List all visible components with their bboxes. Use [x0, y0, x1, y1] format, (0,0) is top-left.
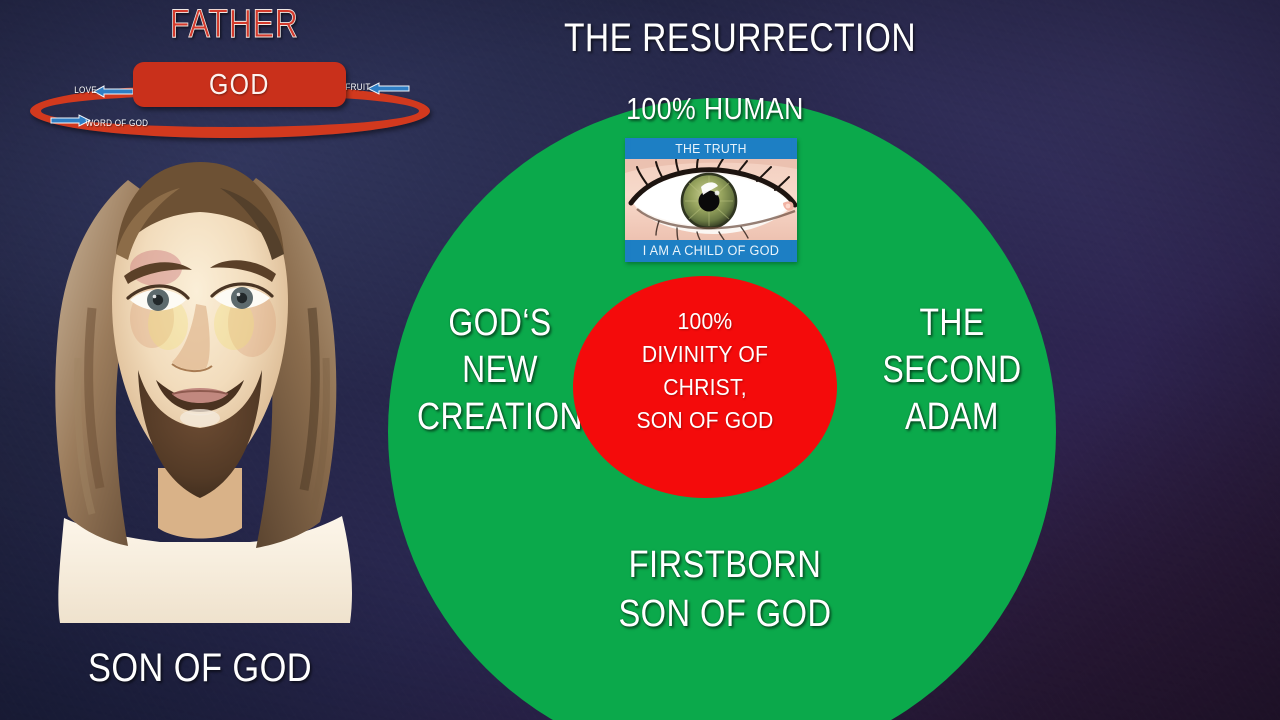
label-gods-new-creation: GOD‘S NEW CREATION: [416, 300, 584, 441]
label-line: THE: [876, 300, 1027, 347]
god-box-label: GOD: [209, 70, 270, 100]
eye-photo: [625, 159, 797, 240]
divinity-text-block: 100% DIVINITY OF CHRIST, SON OF GOD: [584, 305, 827, 437]
label-line: SECOND: [876, 347, 1027, 394]
label-line: GOD‘S: [416, 300, 584, 347]
fruit-arrow-icon: [366, 81, 410, 97]
label-line: SON OF GOD: [570, 590, 880, 639]
label-the-second-adam: THE SECOND ADAM: [876, 300, 1027, 441]
ring-label-fruit: FRUIT: [345, 82, 370, 92]
page-title: THE RESURRECTION: [555, 16, 925, 60]
eye-card-footer: I AM A CHILD OF GOD: [630, 240, 792, 262]
divinity-line: SON OF GOD: [584, 404, 827, 437]
label-line: NEW: [416, 347, 584, 394]
label-firstborn-son-of-god: FIRSTBORN SON OF GOD: [570, 541, 880, 639]
label-line: CREATION: [416, 394, 584, 441]
love-arrow-icon: [92, 84, 134, 100]
divinity-line: DIVINITY OF: [584, 338, 827, 371]
label-line: FIRSTBORN: [570, 541, 880, 590]
jesus-portrait-image: [20, 118, 380, 638]
ring-label-love: LOVE: [74, 85, 97, 95]
label-line: ADAM: [876, 394, 1027, 441]
divinity-line: 100%: [584, 305, 827, 338]
father-title: FATHER: [170, 2, 290, 46]
truth-eye-card: THE TRUTH: [625, 138, 797, 262]
divinity-line: CHRIST,: [584, 371, 827, 404]
god-center-box: GOD: [133, 62, 346, 107]
eye-card-header: THE TRUTH: [630, 138, 792, 159]
portrait-caption: SON OF GOD: [62, 645, 337, 691]
label-100-percent-human: 100% HUMAN: [590, 92, 839, 126]
